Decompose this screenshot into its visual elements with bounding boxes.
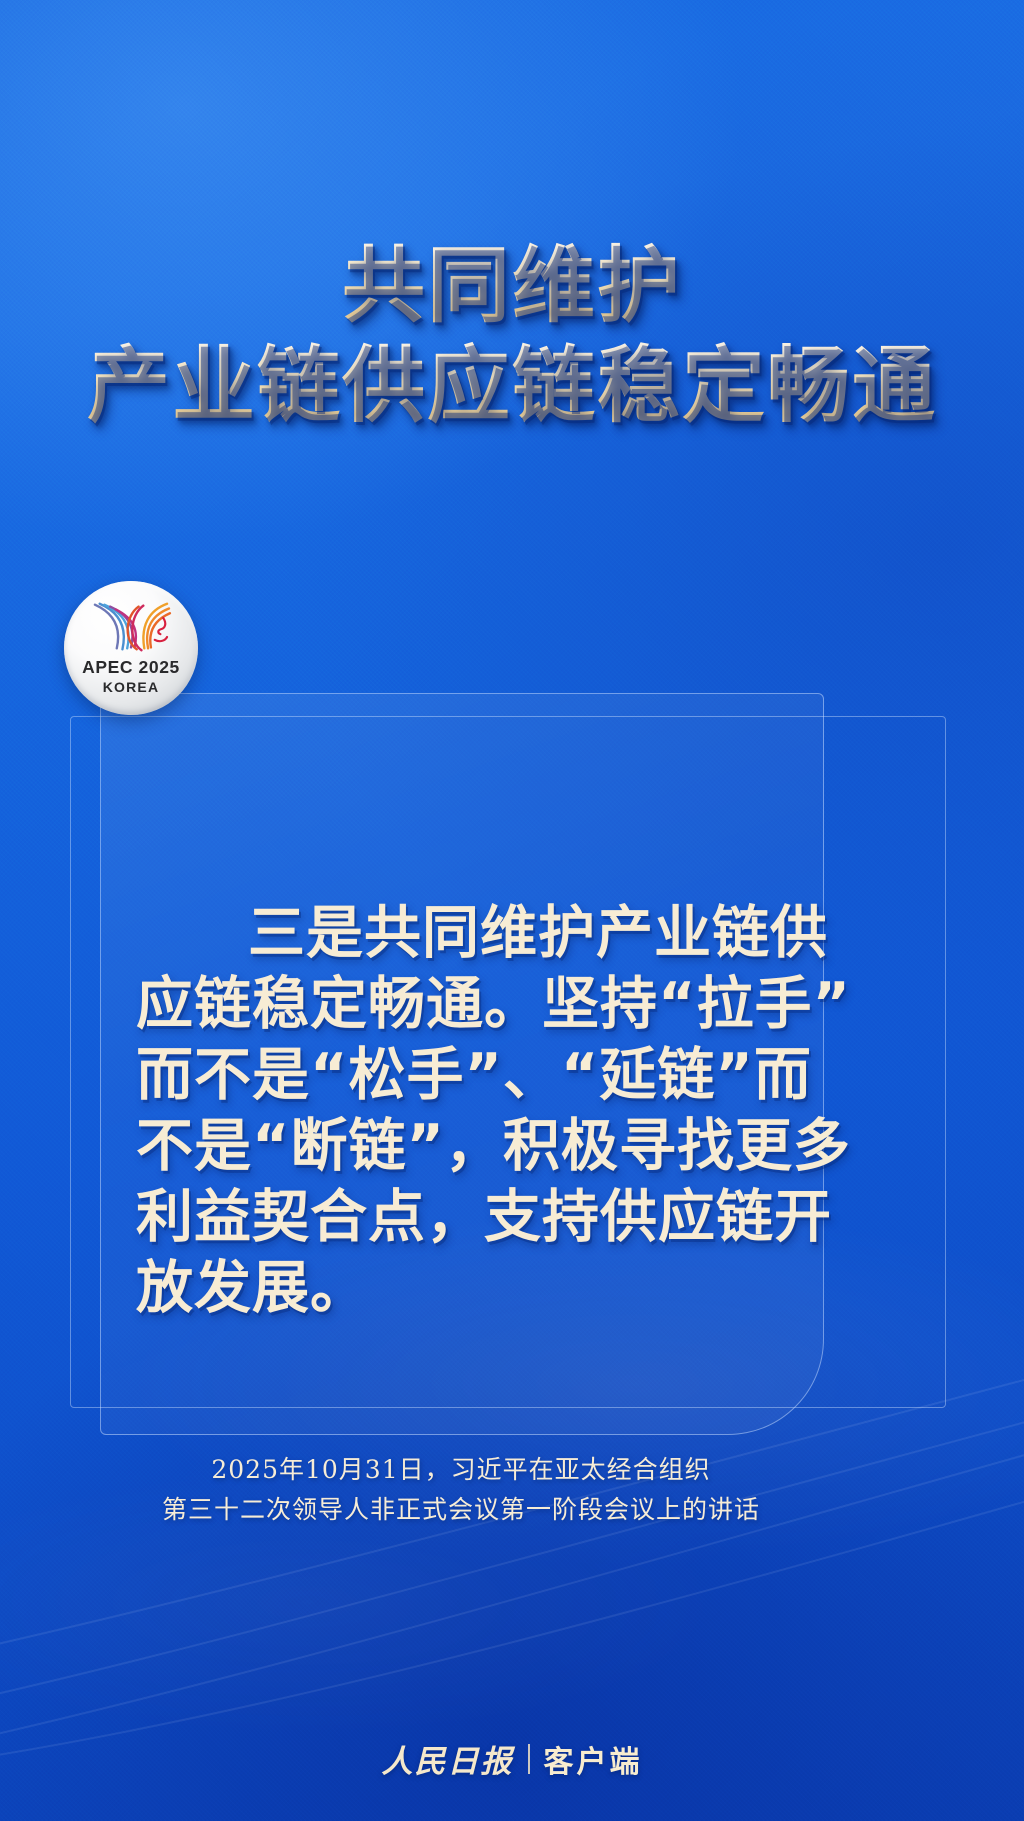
- title-line-1: 共同维护: [0, 236, 1024, 336]
- app-name-label: 客户端: [544, 1737, 643, 1781]
- quote-line-6: 放发展。: [136, 1253, 808, 1324]
- quote-line-3: 而不是“松手”、“延链”而: [136, 1040, 808, 1111]
- badge-subtitle: KOREA: [103, 679, 160, 695]
- footer-divider: [528, 1744, 530, 1774]
- quote-line-1: 三是共同维护产业链供: [136, 898, 808, 969]
- footer-brand-bar: 人民日报 客户端: [0, 1736, 1024, 1781]
- peoples-daily-wordmark: 人民日报: [382, 1736, 514, 1781]
- apec-2025-korea-badge: APEC 2025 KOREA: [64, 581, 198, 715]
- apec-emblem-icon: [83, 599, 179, 655]
- title-line-2: 产业链供应链稳定畅通: [0, 336, 1024, 436]
- quote-line-5: 利益契合点，支持供应链开: [136, 1182, 808, 1253]
- attribution-line-1: 2025年10月31日，习近平在亚太经合组织: [100, 1450, 822, 1490]
- badge-title: APEC 2025: [82, 657, 180, 678]
- quote-line-4: 不是“断链”，积极寻找更多: [136, 1111, 808, 1182]
- quote-line-2: 应链稳定畅通。坚持“拉手”: [136, 969, 808, 1040]
- quote-attribution: 2025年10月31日，习近平在亚太经合组织 第三十二次领导人非正式会议第一阶段…: [100, 1450, 822, 1530]
- poster-title: 共同维护 产业链供应链稳定畅通: [0, 236, 1024, 436]
- quote-text: 三是共同维护产业链供 应链稳定畅通。坚持“拉手” 而不是“松手”、“延链”而 不…: [136, 898, 808, 1324]
- poster-canvas: 共同维护 产业链供应链稳定畅通: [0, 0, 1024, 1821]
- attribution-line-2: 第三十二次领导人非正式会议第一阶段会议上的讲话: [100, 1490, 822, 1530]
